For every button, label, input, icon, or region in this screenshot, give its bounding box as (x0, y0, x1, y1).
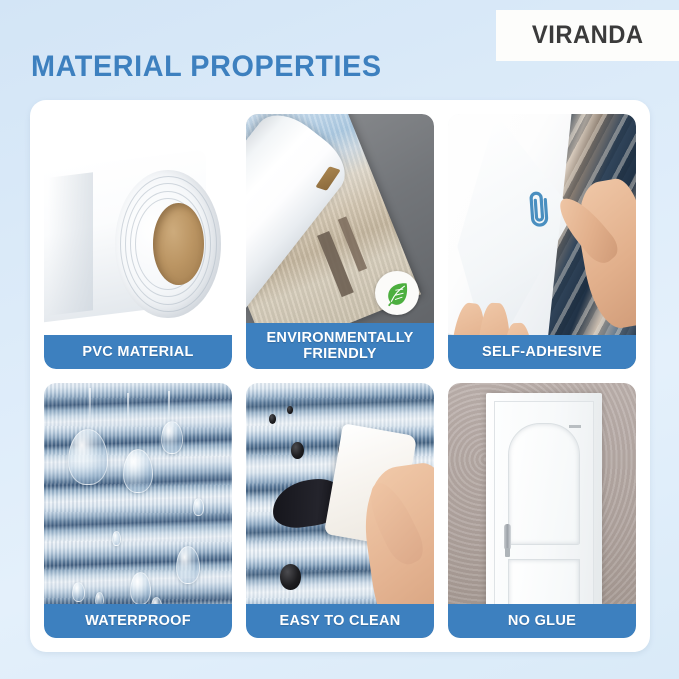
easy-to-clean-image (246, 383, 434, 638)
features-card: PVC MATERIAL (30, 100, 650, 652)
water-droplet (161, 421, 184, 454)
door-slab (494, 401, 594, 638)
feature-tile-self-adhesive[interactable]: SELF-ADHESIVE (448, 114, 636, 369)
waterproof-image (44, 383, 232, 638)
black-stain (280, 564, 301, 590)
page-title: MATERIAL PROPERTIES (31, 50, 382, 84)
brand-name: VIRANDA (532, 21, 644, 50)
feature-tile-environmentally-friendly[interactable]: ENVIRONMENTALLY FRIENDLY (246, 114, 434, 369)
door-frame (486, 393, 603, 638)
drip-trail (127, 393, 129, 429)
pvc-roll-image (44, 114, 232, 369)
infographic-page: MATERIAL PROPERTIES VIRANDA (0, 0, 679, 679)
brand-badge: VIRANDA (496, 10, 679, 61)
roll-inner-edge (315, 166, 341, 190)
paperclip-icon (524, 187, 557, 233)
feature-label-no-glue: NO GLUE (448, 604, 636, 638)
feature-label-self-adhesive: SELF-ADHESIVE (448, 335, 636, 369)
drip-trail (168, 391, 170, 424)
leaf-icon (375, 271, 419, 315)
header: MATERIAL PROPERTIES VIRANDA (0, 0, 679, 100)
feature-label-waterproof: WATERPROOF (44, 604, 232, 638)
feature-tile-easy-to-clean[interactable]: EASY TO CLEAN (246, 383, 434, 638)
feature-tile-no-glue[interactable]: NO GLUE (448, 383, 636, 638)
door-panel-top (508, 423, 581, 545)
feature-tile-pvc-material[interactable]: PVC MATERIAL (44, 114, 232, 369)
water-droplet (123, 449, 153, 492)
feature-tile-waterproof[interactable]: WATERPROOF (44, 383, 232, 638)
self-adhesive-image (448, 114, 636, 369)
door-hinge-mark (569, 425, 581, 428)
water-droplet (193, 498, 204, 516)
water-droplet (72, 582, 85, 602)
label-line-1: ENVIRONMENTALLY (266, 330, 413, 346)
feature-grid: PVC MATERIAL (44, 114, 636, 638)
black-stain (269, 414, 277, 424)
drip-trail (89, 388, 91, 434)
pvc-cardboard-core (153, 203, 204, 285)
water-droplet (112, 531, 121, 546)
water-droplet (68, 429, 107, 485)
water-droplet (176, 546, 200, 584)
door-handle[interactable] (504, 524, 511, 550)
no-glue-door-image (448, 383, 636, 638)
feature-label-easy-to-clean: EASY TO CLEAN (246, 604, 434, 638)
black-stain (287, 406, 293, 414)
pvc-edge-shade (48, 172, 93, 315)
door-lock[interactable] (505, 548, 510, 557)
feature-label-environmentally-friendly: ENVIRONMENTALLY FRIENDLY (246, 323, 434, 369)
feature-label-pvc-material: PVC MATERIAL (44, 335, 232, 369)
label-line-2: FRIENDLY (303, 346, 377, 362)
